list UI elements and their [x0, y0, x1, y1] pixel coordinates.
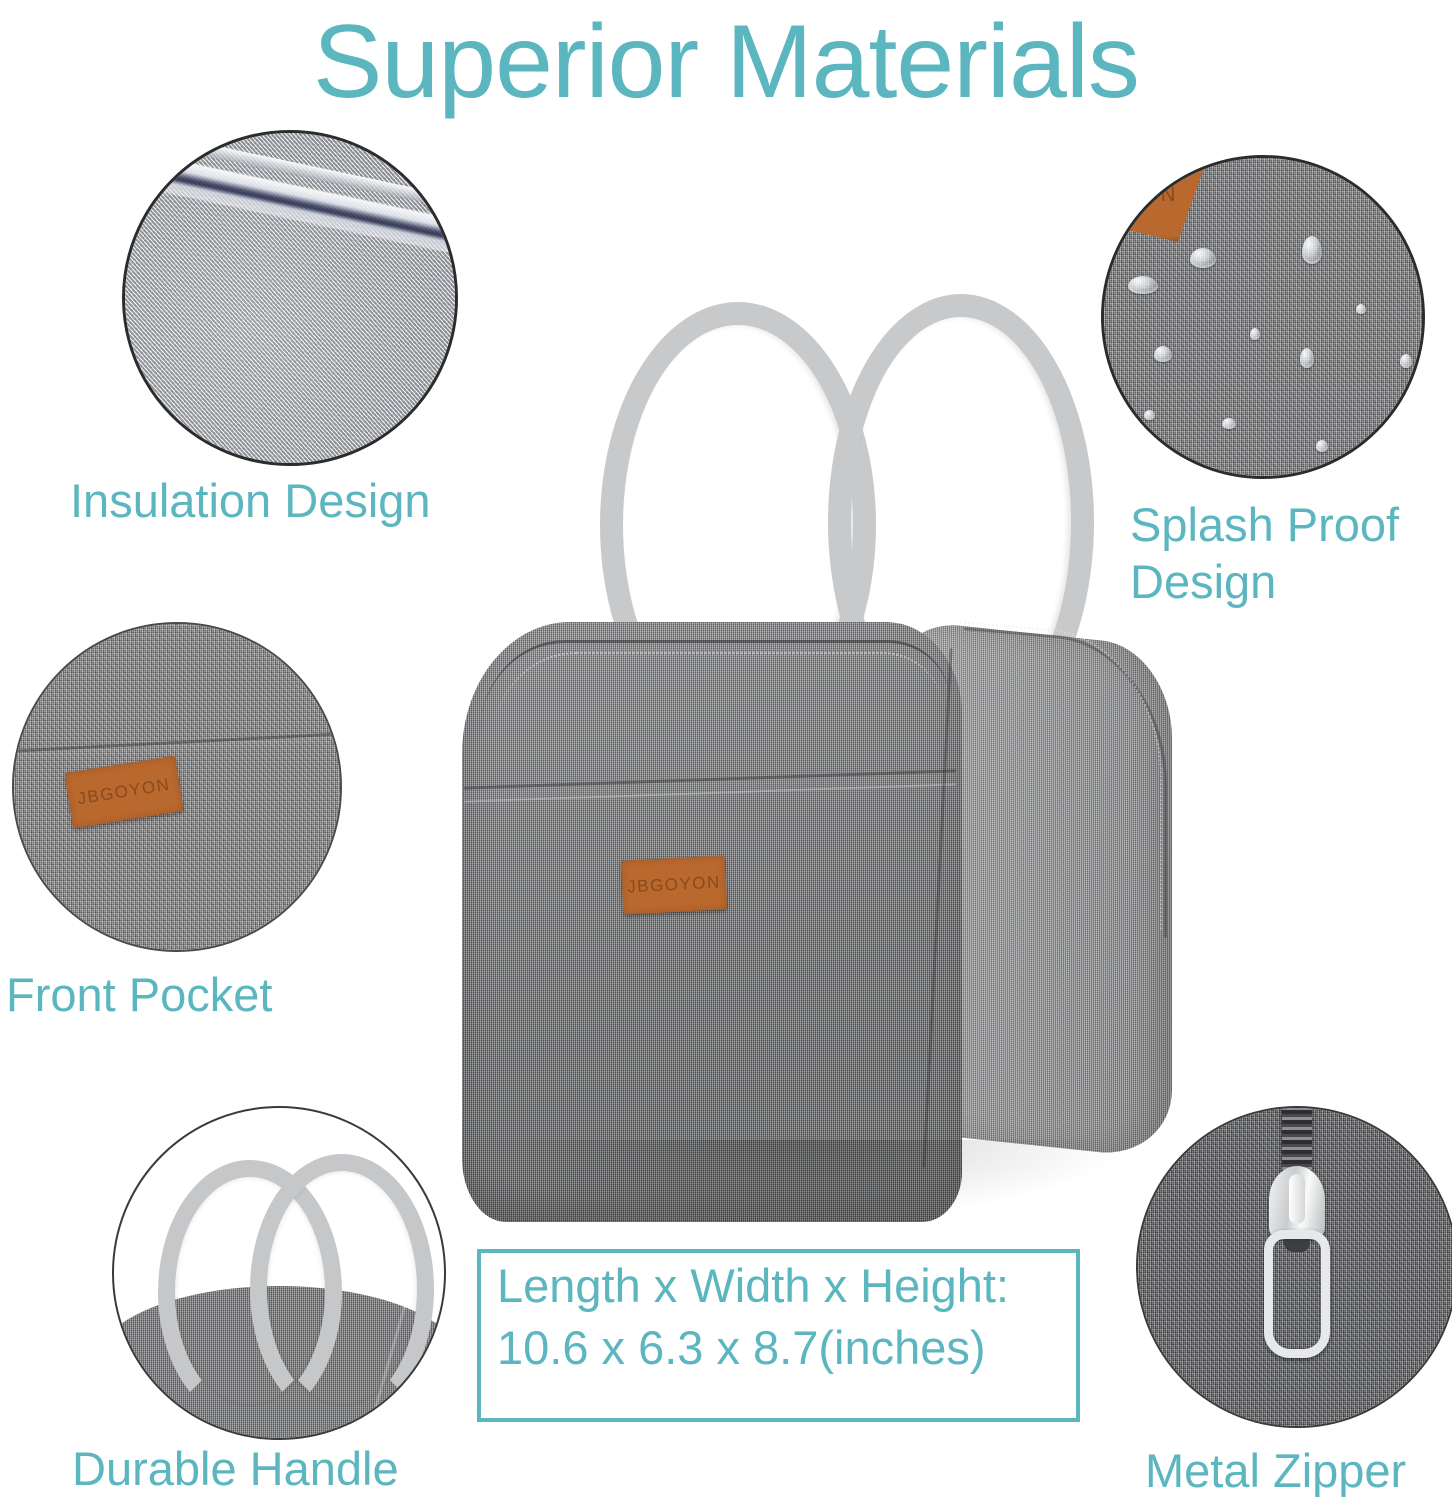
metal-zipper-closeup-image	[1136, 1106, 1452, 1428]
product-bag-image: JBGOYON	[440, 280, 1180, 1220]
closeup-handle-right-rope	[250, 1154, 434, 1424]
insulation-closeup-image	[122, 130, 458, 466]
infographic-page: Superior Materials Insulation Design YON…	[0, 0, 1452, 1500]
zipper-slider-ridge	[1289, 1174, 1305, 1224]
page-title: Superior Materials	[0, 6, 1452, 118]
label-durable-handle: Durable Handle	[72, 1440, 399, 1497]
water-droplet	[1300, 348, 1314, 368]
dimensions-text: Length x Width x Height: 10.6 x 6.3 x 8.…	[497, 1255, 1077, 1379]
zipper-pull-tab	[1264, 1230, 1330, 1358]
leather-tag-partial-text: YON	[1130, 184, 1176, 207]
label-metal-zipper: Metal Zipper	[1145, 1442, 1406, 1499]
brand-tag-bag-front: JBGOYON	[621, 855, 728, 914]
water-droplet	[1400, 354, 1412, 368]
water-droplet	[1190, 248, 1216, 268]
bag-lid-stitching	[492, 652, 944, 744]
water-droplet	[1356, 304, 1366, 314]
dimensions-box: Length x Width x Height: 10.6 x 6.3 x 8.…	[477, 1249, 1080, 1422]
water-droplet	[1316, 440, 1328, 452]
water-droplet	[1222, 418, 1236, 429]
zipper-slider-body	[1269, 1166, 1325, 1238]
durable-handle-closeup-image	[112, 1106, 446, 1440]
label-insulation-design: Insulation Design	[70, 472, 431, 529]
label-front-pocket: Front Pocket	[6, 966, 272, 1023]
water-droplet	[1302, 236, 1322, 264]
water-droplet	[1250, 328, 1260, 340]
